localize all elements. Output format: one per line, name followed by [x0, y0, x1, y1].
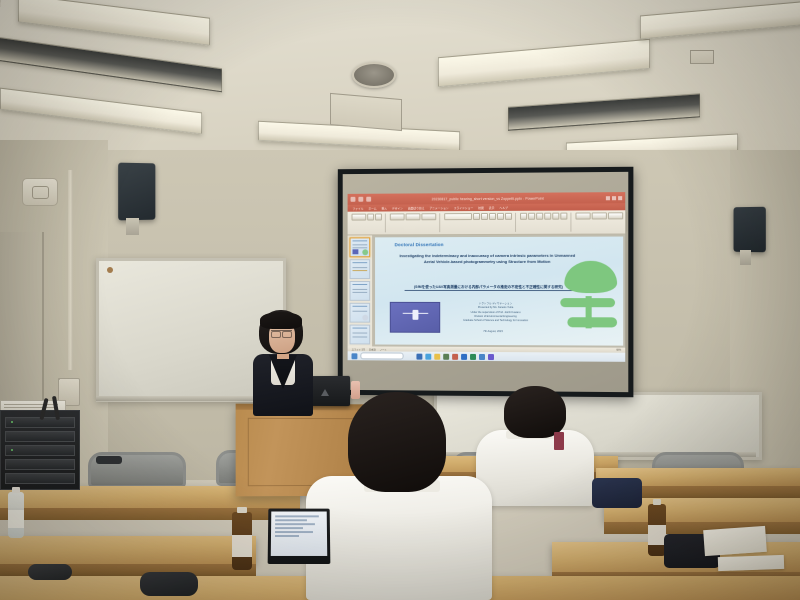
ribbon-tab-transitions[interactable]: 画面切り替え: [408, 206, 425, 210]
ceiling-speaker: [352, 62, 396, 88]
ribbon-group-drawing[interactable]: [575, 212, 627, 231]
ribbon-group-clipboard[interactable]: [352, 213, 386, 232]
powerpoint-workspace: Doctoral Dissertation Investigating the …: [348, 235, 626, 348]
undo-icon[interactable]: [358, 197, 363, 202]
ceiling-access-hatch: [330, 93, 402, 131]
ribbon-group-paragraph[interactable]: [520, 213, 571, 232]
lecture-hall-photo: 20230817_public hearing_short version_vs…: [0, 0, 800, 600]
audience-laptop-screen: [271, 511, 327, 555]
taskbar-icon-excel[interactable]: [470, 353, 476, 359]
speaker-right-mount: [740, 250, 751, 265]
bag-small[interactable]: [28, 564, 72, 580]
window-title: 20230817_public hearing_short version_vs…: [374, 196, 603, 201]
tree-graphic-icon: [555, 261, 620, 342]
quick-styles-button[interactable]: [608, 212, 623, 219]
font-color-button[interactable]: [505, 213, 512, 220]
slide-heading: Doctoral Dissertation: [395, 243, 444, 248]
font-size-select[interactable]: [473, 213, 480, 220]
desk[interactable]: [0, 536, 256, 564]
status-notes[interactable]: ノート: [380, 347, 387, 351]
save-icon[interactable]: [351, 197, 356, 202]
tea-bottle[interactable]: [232, 512, 252, 570]
ribbon-tab-animations[interactable]: アニメーション: [429, 206, 448, 210]
minimize-icon[interactable]: [606, 196, 610, 200]
projection-screen: 20230817_public hearing_short version_vs…: [338, 167, 634, 398]
projection-surface: 20230817_public hearing_short version_vs…: [343, 172, 629, 392]
smoke-detector-icon: [22, 178, 58, 206]
taskbar-icon-edge[interactable]: [425, 353, 431, 359]
ribbon-tab-slideshow[interactable]: スライドショー: [454, 206, 474, 210]
slide-title: Investigating the indeterminacy and inac…: [397, 253, 578, 265]
start-button-icon[interactable]: [352, 353, 358, 359]
italic-button[interactable]: [489, 213, 496, 220]
close-icon[interactable]: [618, 196, 622, 200]
audience-laptop[interactable]: [268, 509, 331, 564]
window-controls[interactable]: [606, 196, 622, 200]
line-spacing-button[interactable]: [560, 213, 567, 220]
taskbar-search-input[interactable]: [360, 352, 403, 359]
align-center-button[interactable]: [544, 213, 551, 220]
ribbon-tab-design[interactable]: デザイン: [392, 206, 403, 210]
numbered-list-button[interactable]: [528, 213, 535, 220]
remote-control[interactable]: [96, 456, 122, 464]
lanyard: [554, 432, 564, 450]
whiteboard-magnet: [107, 267, 113, 273]
redo-icon[interactable]: [366, 197, 371, 202]
taskbar-icon-teams[interactable]: [479, 353, 485, 359]
status-language: 日本語: [369, 347, 376, 351]
slide-thumbnail[interactable]: [350, 237, 371, 257]
speaker-left-icon: [118, 163, 155, 221]
current-slide[interactable]: Doctoral Dissertation Investigating the …: [375, 237, 623, 346]
slide-editing-area[interactable]: Doctoral Dissertation Investigating the …: [373, 235, 625, 348]
slide-thumbnail[interactable]: [350, 281, 371, 301]
slide-title-japanese: (SfMを使ったUAV写真測量における内部パラメータの推定の不定性と不正確性に関…: [404, 285, 573, 292]
taskbar-icon-mail[interactable]: [443, 353, 449, 359]
av-equipment-rack: [0, 410, 80, 490]
align-right-button[interactable]: [552, 213, 559, 220]
ribbon-tab-file[interactable]: ファイル: [352, 206, 363, 210]
slide-thumbnail[interactable]: [350, 259, 371, 279]
taskbar-icon-explorer[interactable]: [416, 353, 422, 359]
cut-button[interactable]: [367, 214, 374, 221]
paste-button[interactable]: [352, 214, 367, 221]
reset-button[interactable]: [421, 213, 436, 220]
taskbar-icon-zoom[interactable]: [488, 354, 494, 360]
ribbon-group-slides[interactable]: [390, 213, 440, 232]
slide-thumbnail[interactable]: [350, 303, 371, 323]
taskbar-icon-folder[interactable]: [434, 353, 440, 359]
papers[interactable]: [718, 555, 784, 571]
taskbar-icon-powerpoint[interactable]: [452, 353, 458, 359]
slide-faculty: Graduate School of Science and Technolog…: [424, 319, 568, 324]
shapes-gallery[interactable]: [575, 212, 590, 219]
ribbon-tab-home[interactable]: ホーム: [368, 206, 376, 210]
taskbar-icon-word[interactable]: [461, 353, 467, 359]
arrange-button[interactable]: [592, 212, 607, 219]
speaker-left-mount: [126, 218, 139, 235]
wall-conduit: [68, 170, 73, 370]
wall-outlet-shadow: [58, 378, 60, 380]
ribbon-toolbar[interactable]: [348, 210, 626, 235]
slide-thumbnail[interactable]: [350, 325, 371, 345]
water-bottle[interactable]: [8, 492, 24, 538]
drone-image: [390, 302, 441, 333]
slide-date: 7th August, 2023: [424, 330, 563, 334]
windows-taskbar[interactable]: [348, 351, 626, 362]
layout-button[interactable]: [406, 213, 421, 220]
ribbon-tab-help[interactable]: ヘルプ: [499, 205, 507, 209]
underline-button[interactable]: [497, 213, 504, 220]
presenter-glasses-icon: [271, 330, 292, 336]
slide-credits: ドクトラル ディサテーション Presented by Ms. Kaneko Y…: [424, 302, 568, 324]
camera-bag[interactable]: [140, 572, 198, 596]
audience-member-front: [306, 392, 492, 600]
slide-thumbnail-panel[interactable]: [348, 235, 373, 346]
new-slide-button[interactable]: [390, 213, 405, 220]
bullet-list-button[interactable]: [520, 213, 527, 220]
copy-button[interactable]: [375, 214, 382, 221]
align-left-button[interactable]: [536, 213, 543, 220]
font-family-select[interactable]: [444, 213, 472, 220]
backpack[interactable]: [592, 478, 642, 508]
status-slide-number: スライド 1/5: [352, 347, 365, 351]
speaker-right-icon: [734, 207, 766, 253]
bold-button[interactable]: [481, 213, 488, 220]
ribbon-tab-view[interactable]: 表示: [489, 205, 495, 209]
presenter-fringe: [260, 312, 302, 329]
maximize-icon[interactable]: [612, 196, 616, 200]
ceiling-vent: [690, 50, 714, 64]
zoom-level[interactable]: 68%: [616, 349, 621, 352]
ribbon-group-font[interactable]: [444, 213, 516, 232]
ribbon-tab-insert[interactable]: 挿入: [381, 206, 387, 210]
papers[interactable]: [703, 526, 767, 556]
ribbon-tab-review[interactable]: 校閲: [478, 206, 484, 210]
